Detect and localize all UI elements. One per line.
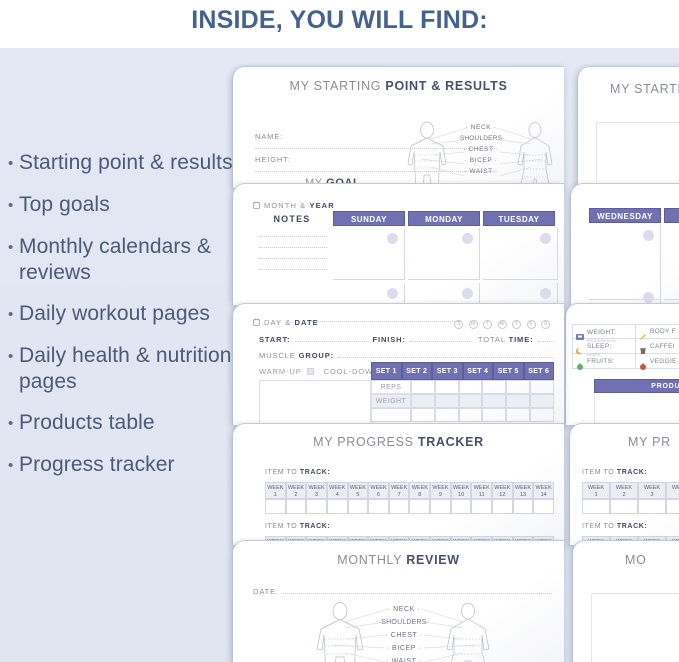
item-to-track-label-2: ITEM TO TRACK: bbox=[265, 523, 330, 530]
page-title-clipped: MY STARTI bbox=[578, 82, 679, 96]
calendar-day-thursday: THUR bbox=[664, 208, 679, 223]
date-input-line[interactable] bbox=[283, 593, 552, 594]
page-title-monthly-review: MONTHLY REVIEW bbox=[233, 553, 564, 567]
muscle-group-input-line[interactable] bbox=[338, 357, 554, 358]
page-card-calendar-partial[interactable]: WEDNESDAY THUR bbox=[570, 183, 679, 305]
page-card-monthly-review[interactable]: MONTHLY REVIEW DATE: bbox=[232, 540, 564, 662]
calendar-day-wednesday: WEDNESDAY bbox=[589, 208, 661, 223]
page-body-blank bbox=[596, 122, 679, 188]
start-input-line[interactable] bbox=[295, 341, 367, 342]
page-card-monthly-calendar[interactable]: MONTH & YEAR NOTES SUNDAY MONDAY TUESDAY bbox=[232, 183, 564, 305]
page-body-blank bbox=[591, 593, 679, 662]
page-title: INSIDE, YOU WILL FIND: bbox=[0, 0, 679, 40]
week-cells-row-1[interactable] bbox=[265, 499, 554, 514]
set-header-6: SET 6 bbox=[524, 362, 555, 380]
week-cell-5[interactable] bbox=[348, 499, 369, 514]
title-light: MONTHLY bbox=[337, 553, 406, 567]
date-field-row[interactable]: DATE: bbox=[253, 587, 552, 596]
height-label: HEIGHT: bbox=[255, 155, 291, 164]
list-item-label: Monthly calendars & reviews bbox=[19, 234, 233, 286]
calendar-grid-row1[interactable] bbox=[333, 228, 564, 280]
day-circle-thursday[interactable]: T bbox=[512, 320, 521, 329]
day-date-bold: DATE bbox=[295, 318, 319, 327]
total-time-input-line[interactable] bbox=[538, 341, 554, 342]
list-item-label: Products table bbox=[19, 410, 233, 436]
list-item-label: Progress tracker bbox=[19, 452, 233, 478]
calendar-day-marker bbox=[462, 288, 473, 299]
calendar-day-marker bbox=[540, 233, 551, 244]
name-label: NAME: bbox=[255, 132, 283, 141]
health-label-veggies: VEGGIE bbox=[650, 358, 677, 365]
body-label-chest: · CHEST · bbox=[457, 144, 505, 155]
week-header-10: WEEK10 bbox=[451, 482, 472, 499]
body-label-waist: · WAIST · bbox=[378, 655, 430, 662]
list-item: • Progress tracker bbox=[8, 452, 233, 479]
body-label-shoulders: ·SHOULDERS· bbox=[457, 133, 505, 144]
month-year-bold: YEAR bbox=[309, 201, 334, 210]
page-card-progress-tracker[interactable]: MY PROGRESS TRACKER ITEM TO TRACK: WEEK1… bbox=[232, 423, 564, 545]
muscle-group-label: MUSCLE GROUP: bbox=[259, 351, 334, 360]
start-label: START: bbox=[259, 335, 291, 344]
list-item-label: Starting point & results bbox=[19, 150, 233, 176]
title-light: MY STARTING bbox=[289, 79, 385, 93]
health-metrics-grid[interactable]: WEIGHT:POUNDS/KILOS BODY F SLEEP:HOURS bbox=[572, 324, 679, 369]
list-item-label: Daily health & nutrition pages bbox=[19, 343, 233, 395]
bullet-icon: • bbox=[8, 235, 19, 261]
scale-icon bbox=[576, 328, 584, 336]
health-metric-caffeine[interactable]: CAFFEI bbox=[636, 339, 679, 354]
day-circle-sunday[interactable]: S bbox=[454, 320, 463, 329]
page-card-starting-point-partial[interactable]: MY STARTI bbox=[577, 66, 679, 188]
day-circle-tuesday[interactable]: T bbox=[483, 320, 492, 329]
list-item-label: Daily workout pages bbox=[19, 301, 233, 327]
row-label-reps: REPS bbox=[371, 380, 411, 394]
page-title-clipped: MO bbox=[573, 553, 679, 567]
title-bold: REVIEW bbox=[406, 553, 460, 567]
list-item: • Top goals bbox=[8, 192, 233, 219]
set-header-3: SET 3 bbox=[432, 362, 463, 380]
set-row-reps[interactable]: REPS bbox=[371, 380, 554, 394]
page-card-starting-point[interactable]: MY STARTING POINT & RESULTS NAME: HEIGHT… bbox=[232, 66, 564, 188]
page-title-progress-tracker: MY PROGRESS TRACKER bbox=[233, 435, 564, 449]
title-bold: TRACKER bbox=[418, 435, 484, 449]
set-header-4: SET 4 bbox=[463, 362, 494, 380]
health-metric-sleep[interactable]: SLEEP:HOURS bbox=[572, 339, 636, 354]
day-circle-monday[interactable]: M bbox=[469, 320, 478, 329]
week-cell-6[interactable] bbox=[368, 499, 389, 514]
month-year-light: MONTH & bbox=[264, 201, 309, 210]
finish-label: FINISH: bbox=[373, 335, 406, 344]
week-header-4: WEEK4 bbox=[327, 482, 348, 499]
apple-green-icon bbox=[576, 357, 584, 365]
body-label-chest: · CHEST · bbox=[378, 629, 430, 642]
week-header-3: WEEK3 bbox=[306, 482, 327, 499]
body-measurement-diagram: · NECK · ·SHOULDERS· · CHEST · · BICEP ·… bbox=[308, 601, 498, 662]
list-item: • Daily workout pages bbox=[8, 301, 233, 328]
time-fields-row[interactable]: START: FINISH: TOTAL TIME: bbox=[259, 335, 554, 344]
page-card-progress-tracker-partial[interactable]: MY PR ITEM TO TRACK: WEEK1 WEEK2 WEEK3 W… bbox=[569, 423, 679, 545]
row-label-weight: WEIGHT bbox=[371, 394, 411, 408]
week-cell-11[interactable] bbox=[471, 499, 492, 514]
calendar-day-sunday: SUNDAY bbox=[333, 211, 405, 226]
calendar-day-marker bbox=[643, 292, 654, 303]
body-label-neck: · NECK · bbox=[457, 122, 505, 133]
week-header-5: WEEK5 bbox=[348, 482, 369, 499]
week-header-8: WEEK8 bbox=[409, 482, 430, 499]
list-item: • Starting point & results bbox=[8, 150, 233, 177]
calendar-day-marker bbox=[540, 288, 551, 299]
bullet-icon: • bbox=[8, 151, 19, 177]
list-item-label: Top goals bbox=[19, 192, 233, 218]
day-circle-friday[interactable]: F bbox=[527, 320, 536, 329]
set-row-weight[interactable]: WEIGHT bbox=[371, 394, 554, 408]
set-header-2: SET 2 bbox=[402, 362, 433, 380]
bullet-icon: • bbox=[8, 344, 19, 370]
body-label-neck: · NECK · bbox=[378, 603, 430, 616]
calendar-grid-row2[interactable] bbox=[333, 283, 564, 305]
warmup-label: WARM-UP bbox=[259, 367, 302, 376]
notes-lines[interactable] bbox=[259, 236, 327, 270]
week-header-row-partial: WEEK1 WEEK2 WEEK3 WEEK4 WEEK5 WEEK6 bbox=[582, 482, 679, 499]
item-to-track-label-2: ITEM TO TRACK: bbox=[582, 523, 647, 530]
week-header: WEEK1 bbox=[582, 482, 610, 499]
exercise-name-cell[interactable] bbox=[259, 380, 371, 425]
products-table-body[interactable] bbox=[594, 396, 679, 424]
week-cells-row-partial[interactable] bbox=[582, 499, 679, 514]
health-label-body-fat: BODY F bbox=[650, 328, 676, 335]
coffee-cup-icon bbox=[639, 342, 647, 350]
list-item: • Monthly calendars & reviews bbox=[8, 234, 233, 286]
products-section-header: PRODUCTS bbox=[594, 379, 679, 393]
health-label-fruits: FRUITS: bbox=[587, 358, 614, 365]
page-card-monthly-review-partial[interactable]: MO bbox=[572, 540, 679, 662]
page-title-clipped: MY PR bbox=[570, 435, 679, 449]
set-header-row: SET 1 SET 2 SET 3 SET 4 SET 5 SET 6 bbox=[371, 362, 554, 380]
bullet-icon: • bbox=[8, 411, 19, 437]
body-label-bicep: · BICEP · bbox=[457, 155, 505, 166]
notes-label: NOTES bbox=[257, 214, 327, 224]
week-cell-1[interactable] bbox=[265, 499, 286, 514]
week-cell-13[interactable] bbox=[513, 499, 534, 514]
muscle-group-row[interactable]: MUSCLE GROUP: bbox=[259, 351, 554, 360]
moon-icon bbox=[576, 342, 584, 350]
bullet-icon: • bbox=[8, 453, 19, 479]
body-label-shoulders: ·SHOULDERS· bbox=[378, 616, 430, 629]
week-cell-4[interactable] bbox=[327, 499, 348, 514]
page-title-starting-point: MY STARTING POINT & RESULTS bbox=[233, 79, 564, 93]
page-card-daily-workout[interactable]: DAY & DATE S M T W T F S START: F bbox=[232, 303, 564, 425]
day-date-heading: DAY & DATE bbox=[253, 313, 319, 331]
week-cell-12[interactable] bbox=[492, 499, 513, 514]
week-header-1: WEEK1 bbox=[265, 482, 286, 499]
calendar-icon bbox=[253, 196, 260, 214]
health-metric-fruits[interactable]: FRUITS: bbox=[572, 354, 636, 369]
calendar-header-row-partial: WEDNESDAY THUR bbox=[589, 208, 679, 223]
item-to-track-label-1: ITEM TO TRACK: bbox=[582, 469, 647, 476]
week-header: WEEK2 bbox=[610, 482, 638, 499]
calendar-day-marker bbox=[387, 288, 398, 299]
health-metric-body-fat[interactable]: BODY F bbox=[636, 324, 679, 339]
bullet-icon: • bbox=[8, 193, 19, 219]
health-row[interactable]: SLEEP:HOURS CAFFEI bbox=[572, 339, 679, 354]
week-header: WEEK4 bbox=[666, 482, 679, 499]
week-cell-14[interactable] bbox=[533, 499, 554, 514]
body-label-bicep: · BICEP · bbox=[378, 642, 430, 655]
feature-list: • Starting point & results • Top goals •… bbox=[8, 150, 233, 494]
apple-red-icon bbox=[639, 357, 647, 365]
calendar-icon bbox=[253, 313, 260, 331]
body-label-waist: · WAIST · bbox=[457, 166, 505, 177]
week-header-14: WEEK14 bbox=[533, 482, 554, 499]
calendar-day-marker bbox=[643, 230, 654, 241]
body-measurement-diagram: · NECK · ·SHOULDERS· · CHEST · · BICEP ·… bbox=[401, 119, 561, 188]
set-header-1: SET 1 bbox=[371, 362, 402, 380]
week-header-7: WEEK7 bbox=[389, 482, 410, 499]
calendar-day-marker bbox=[462, 233, 473, 244]
week-header-13: WEEK13 bbox=[513, 482, 534, 499]
calendar-header-row: SUNDAY MONDAY TUESDAY bbox=[333, 211, 564, 226]
set-row-blank[interactable] bbox=[371, 408, 554, 422]
calendar-day-monday: MONDAY bbox=[408, 211, 480, 226]
set-header-5: SET 5 bbox=[493, 362, 524, 380]
date-label: DATE: bbox=[253, 587, 279, 596]
week-header-11: WEEK11 bbox=[471, 482, 492, 499]
month-year-heading: MONTH & YEAR bbox=[253, 196, 335, 214]
title-bold: POINT & RESULTS bbox=[385, 79, 507, 93]
day-date-light: DAY & bbox=[264, 318, 295, 327]
promo-graphic: MY STARTI MY STARTING POINT & RESULTS NA… bbox=[0, 0, 679, 662]
bullet-icon: • bbox=[8, 302, 19, 328]
header-band: INSIDE, YOU WILL FIND: bbox=[0, 0, 679, 48]
title-light: MY PROGRESS bbox=[313, 435, 418, 449]
week-cell-10[interactable] bbox=[451, 499, 472, 514]
health-label-sleep: SLEEP: bbox=[587, 343, 612, 350]
calendar-day-tuesday: TUESDAY bbox=[483, 211, 555, 226]
total-time-label: TOTAL TIME: bbox=[478, 335, 534, 344]
week-header-6: WEEK6 bbox=[368, 482, 389, 499]
health-row[interactable]: FRUITS: VEGGIE bbox=[572, 354, 679, 369]
week-header-row-1: WEEK1WEEK2WEEK3WEEK4WEEK5WEEK6WEEK7WEEK8… bbox=[265, 482, 554, 499]
page-card-health-nutrition[interactable]: WEIGHT:POUNDS/KILOS BODY F SLEEP:HOURS bbox=[565, 303, 679, 425]
day-of-week-selector[interactable]: S M T W T F S bbox=[453, 312, 550, 330]
pencil-icon bbox=[639, 328, 647, 336]
week-header-2: WEEK2 bbox=[286, 482, 307, 499]
week-cell-9[interactable] bbox=[430, 499, 451, 514]
health-metric-veggies[interactable]: VEGGIE bbox=[636, 354, 679, 369]
week-header-12: WEEK12 bbox=[492, 482, 513, 499]
week-header-9: WEEK9 bbox=[430, 482, 451, 499]
week-cell-2[interactable] bbox=[286, 499, 307, 514]
week-header: WEEK3 bbox=[638, 482, 666, 499]
calendar-day-marker bbox=[387, 233, 398, 244]
item-to-track-label-1: ITEM TO TRACK: bbox=[265, 469, 330, 476]
list-item: • Products table bbox=[8, 410, 233, 437]
warmup-checkbox[interactable] bbox=[307, 368, 314, 375]
day-circle-wednesday[interactable]: W bbox=[498, 320, 507, 329]
week-cell-3[interactable] bbox=[306, 499, 327, 514]
health-label-caffeine: CAFFEI bbox=[650, 343, 675, 350]
week-cell-7[interactable] bbox=[389, 499, 410, 514]
day-circle-saturday[interactable]: S bbox=[541, 320, 550, 329]
finish-input-line[interactable] bbox=[410, 341, 472, 342]
day-date-input-line[interactable] bbox=[311, 321, 461, 322]
week-cell-8[interactable] bbox=[409, 499, 430, 514]
list-item: • Daily health & nutrition pages bbox=[8, 343, 233, 395]
